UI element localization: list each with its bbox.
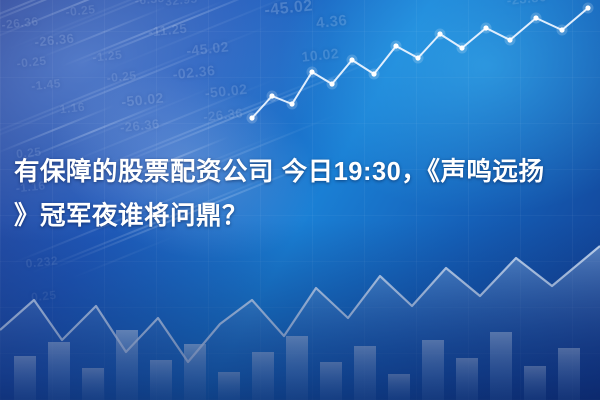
background-wash-bottom [0, 220, 600, 400]
chart-node [289, 101, 294, 106]
chart-node [585, 5, 590, 10]
headline-line-2: 》冠军夜谁将问鼎？ [14, 194, 586, 238]
chart-node [559, 27, 564, 32]
chart-node [371, 71, 376, 76]
chart-node [309, 69, 314, 74]
banner-image: -21.0526.36-45.028.12-26.36-0.25-6.3532.… [0, 0, 600, 400]
chart-node [269, 93, 274, 98]
chart-node [415, 55, 420, 60]
headline-line-1: 有保障的股票配资公司 今日19:30，《声鸣远扬 [14, 158, 545, 186]
chart-node [437, 31, 442, 36]
chart-node [483, 25, 488, 30]
chart-node [393, 43, 398, 48]
chart-node [349, 57, 354, 62]
headline-text: 有保障的股票配资公司 今日19:30，《声鸣远扬 》冠军夜谁将问鼎？ [0, 150, 600, 238]
chart-node [459, 45, 464, 50]
chart-node [533, 15, 538, 20]
chart-node [329, 81, 334, 86]
chart-node [507, 37, 512, 42]
chart-node [249, 115, 254, 120]
